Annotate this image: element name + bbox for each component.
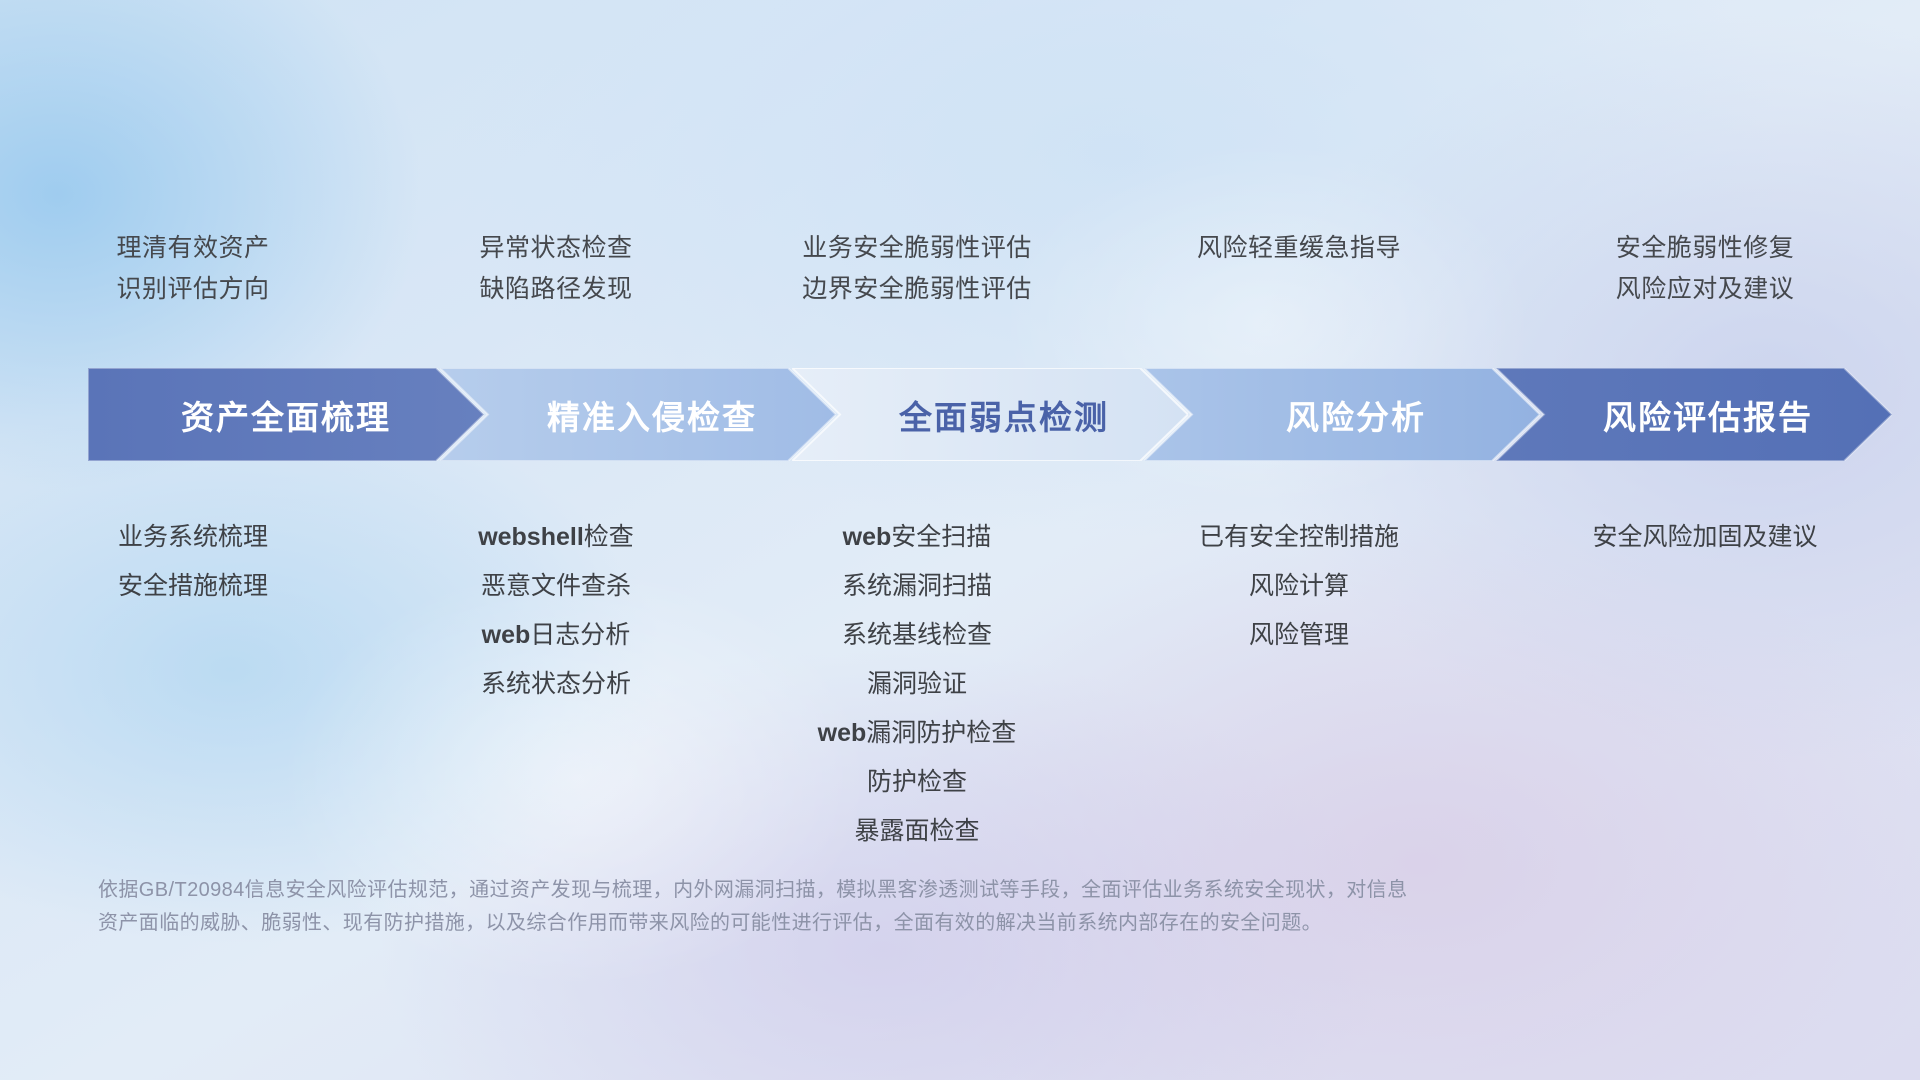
chevron-stage-5[interactable]: 风险评估报告 bbox=[1496, 368, 1892, 461]
bottom-label: 漏洞验证 bbox=[726, 660, 1108, 709]
footer-line-1: 依据GB/T20984信息安全风险评估规范，通过资产发现与梳理，内外网漏洞扫描，… bbox=[98, 874, 1778, 907]
bottom-label: 暴露面检查 bbox=[726, 807, 1108, 856]
bottom-column-5: 安全风险加固及建议 bbox=[1490, 513, 1920, 562]
chevron-label-3: 全面弱点检测 bbox=[899, 391, 1109, 439]
bottom-label: web漏洞防护检查 bbox=[726, 709, 1108, 758]
chevron-stage-1[interactable]: 资产全面梳理 bbox=[88, 368, 484, 461]
top-label: 边界安全脆弱性评估 bbox=[726, 269, 1108, 310]
bottom-label: 系统漏洞扫描 bbox=[726, 562, 1108, 611]
chevron-stage-3[interactable]: 全面弱点检测 bbox=[792, 368, 1188, 461]
top-column-1: 理清有效资产 识别评估方向 bbox=[0, 228, 386, 310]
slide-content: 理清有效资产 识别评估方向 异常状态检查 缺陷路径发现 业务安全脆弱性评估 边界… bbox=[0, 0, 1920, 1080]
bottom-label: 业务系统梳理 bbox=[0, 513, 386, 562]
bottom-labels-row: 业务系统梳理安全措施梳理 webshell检查恶意文件查杀web日志分析系统状态… bbox=[0, 513, 1920, 856]
bottom-column-4: 已有安全控制措施风险计算风险管理 bbox=[1108, 513, 1490, 660]
bottom-label: 系统基线检查 bbox=[726, 611, 1108, 660]
chevron-stage-2[interactable]: 精准入侵检查 bbox=[440, 368, 836, 461]
bottom-label: 安全风险加固及建议 bbox=[1490, 513, 1920, 562]
bottom-label: 防护检查 bbox=[726, 758, 1108, 807]
top-label: 缺陷路径发现 bbox=[386, 269, 726, 310]
slide-background: 理清有效资产 识别评估方向 异常状态检查 缺陷路径发现 业务安全脆弱性评估 边界… bbox=[0, 0, 1920, 1080]
chevron-label-4: 风险分析 bbox=[1286, 391, 1426, 439]
process-chevron-banner: 资产全面梳理 精准入侵检查 bbox=[88, 368, 1850, 461]
top-column-2: 异常状态检查 缺陷路径发现 bbox=[386, 228, 726, 310]
bottom-label: 已有安全控制措施 bbox=[1108, 513, 1490, 562]
top-labels-row: 理清有效资产 识别评估方向 异常状态检查 缺陷路径发现 业务安全脆弱性评估 边界… bbox=[0, 228, 1920, 310]
bottom-label: 恶意文件查杀 bbox=[386, 562, 726, 611]
top-label: 理清有效资产 bbox=[0, 228, 386, 269]
top-column-4: 风险轻重缓急指导 bbox=[1108, 228, 1490, 310]
footer-description: 依据GB/T20984信息安全风险评估规范，通过资产发现与梳理，内外网漏洞扫描，… bbox=[98, 874, 1778, 940]
chevron-label-5: 风险评估报告 bbox=[1603, 391, 1813, 439]
top-label: 风险轻重缓急指导 bbox=[1108, 228, 1490, 269]
chevron-stage-4[interactable]: 风险分析 bbox=[1144, 368, 1540, 461]
bottom-label: web日志分析 bbox=[386, 611, 726, 660]
bottom-label: web安全扫描 bbox=[726, 513, 1108, 562]
top-label: 风险应对及建议 bbox=[1490, 269, 1920, 310]
bottom-column-1: 业务系统梳理安全措施梳理 bbox=[0, 513, 386, 611]
top-label: 识别评估方向 bbox=[0, 269, 386, 310]
bottom-label: webshell检查 bbox=[386, 513, 726, 562]
top-column-5: 安全脆弱性修复 风险应对及建议 bbox=[1490, 228, 1920, 310]
top-column-3: 业务安全脆弱性评估 边界安全脆弱性评估 bbox=[726, 228, 1108, 310]
chevron-label-1: 资产全面梳理 bbox=[181, 391, 391, 439]
bottom-label: 安全措施梳理 bbox=[0, 562, 386, 611]
footer-line-2: 资产面临的威胁、脆弱性、现有防护措施，以及综合作用而带来风险的可能性进行评估，全… bbox=[98, 907, 1778, 940]
chevron-label-2: 精准入侵检查 bbox=[547, 391, 757, 439]
bottom-label: 系统状态分析 bbox=[386, 660, 726, 709]
bottom-column-3: web安全扫描系统漏洞扫描系统基线检查漏洞验证web漏洞防护检查防护检查暴露面检… bbox=[726, 513, 1108, 856]
bottom-column-2: webshell检查恶意文件查杀web日志分析系统状态分析 bbox=[386, 513, 726, 709]
bottom-label: 风险管理 bbox=[1108, 611, 1490, 660]
bottom-label: 风险计算 bbox=[1108, 562, 1490, 611]
top-label: 异常状态检查 bbox=[386, 228, 726, 269]
top-label: 业务安全脆弱性评估 bbox=[726, 228, 1108, 269]
top-label: 安全脆弱性修复 bbox=[1490, 228, 1920, 269]
